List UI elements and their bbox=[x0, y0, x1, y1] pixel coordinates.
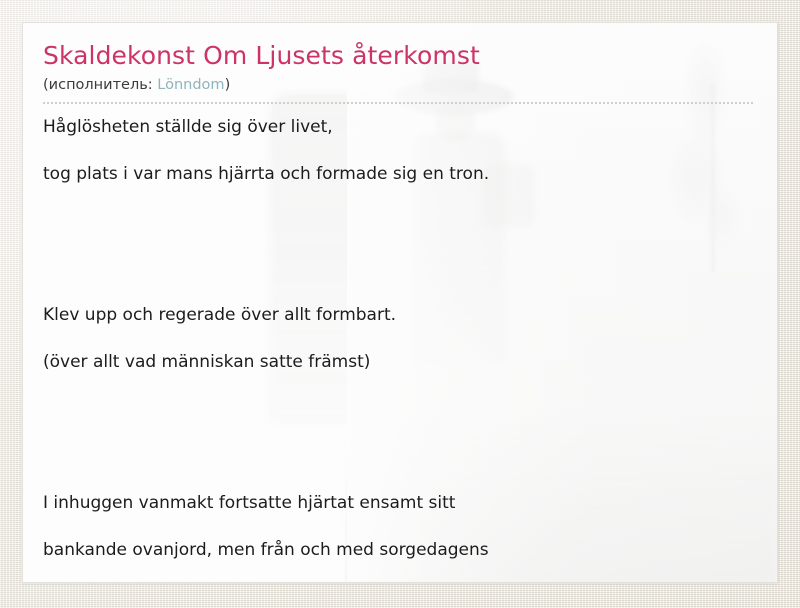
lyric-line: Håglösheten ställde sig över livet, bbox=[43, 104, 753, 151]
artist-link[interactable]: Lönndom bbox=[157, 77, 224, 93]
lyric-line-blank bbox=[43, 245, 753, 292]
page-background: Skaldekonst Om Ljusets återkomst (исполн… bbox=[0, 0, 800, 608]
lyric-line-blank bbox=[43, 198, 753, 245]
lyric-line: Klev upp och regerade över allt formbart… bbox=[43, 292, 753, 339]
byline-close-paren: ) bbox=[225, 77, 231, 93]
lyric-line-blank bbox=[43, 386, 753, 433]
lyric-line: (över allt vad människan satte främst) bbox=[43, 339, 753, 386]
byline-label: исполнитель: bbox=[49, 77, 158, 93]
lyric-line: bankande ovanjord, men från och med sorg… bbox=[43, 527, 753, 574]
lyric-line: I inhuggen vanmakt fortsatte hjärtat ens… bbox=[43, 480, 753, 527]
lyric-line-blank bbox=[43, 433, 753, 480]
lyric-line: tillkomst tvangs lyckan bindas till en f… bbox=[43, 574, 753, 583]
lyrics-card: Skaldekonst Om Ljusets återkomst (исполн… bbox=[22, 22, 778, 583]
lyric-line: tog plats i var mans hjärrta och formade… bbox=[43, 151, 753, 198]
lyrics-body: Håglösheten ställde sig över livet,tog p… bbox=[43, 104, 753, 583]
artist-byline: (исполнитель: Lönndom) bbox=[43, 76, 753, 104]
card-content: Skaldekonst Om Ljusets återkomst (исполн… bbox=[23, 23, 777, 583]
page-title: Skaldekonst Om Ljusets återkomst bbox=[43, 41, 753, 71]
